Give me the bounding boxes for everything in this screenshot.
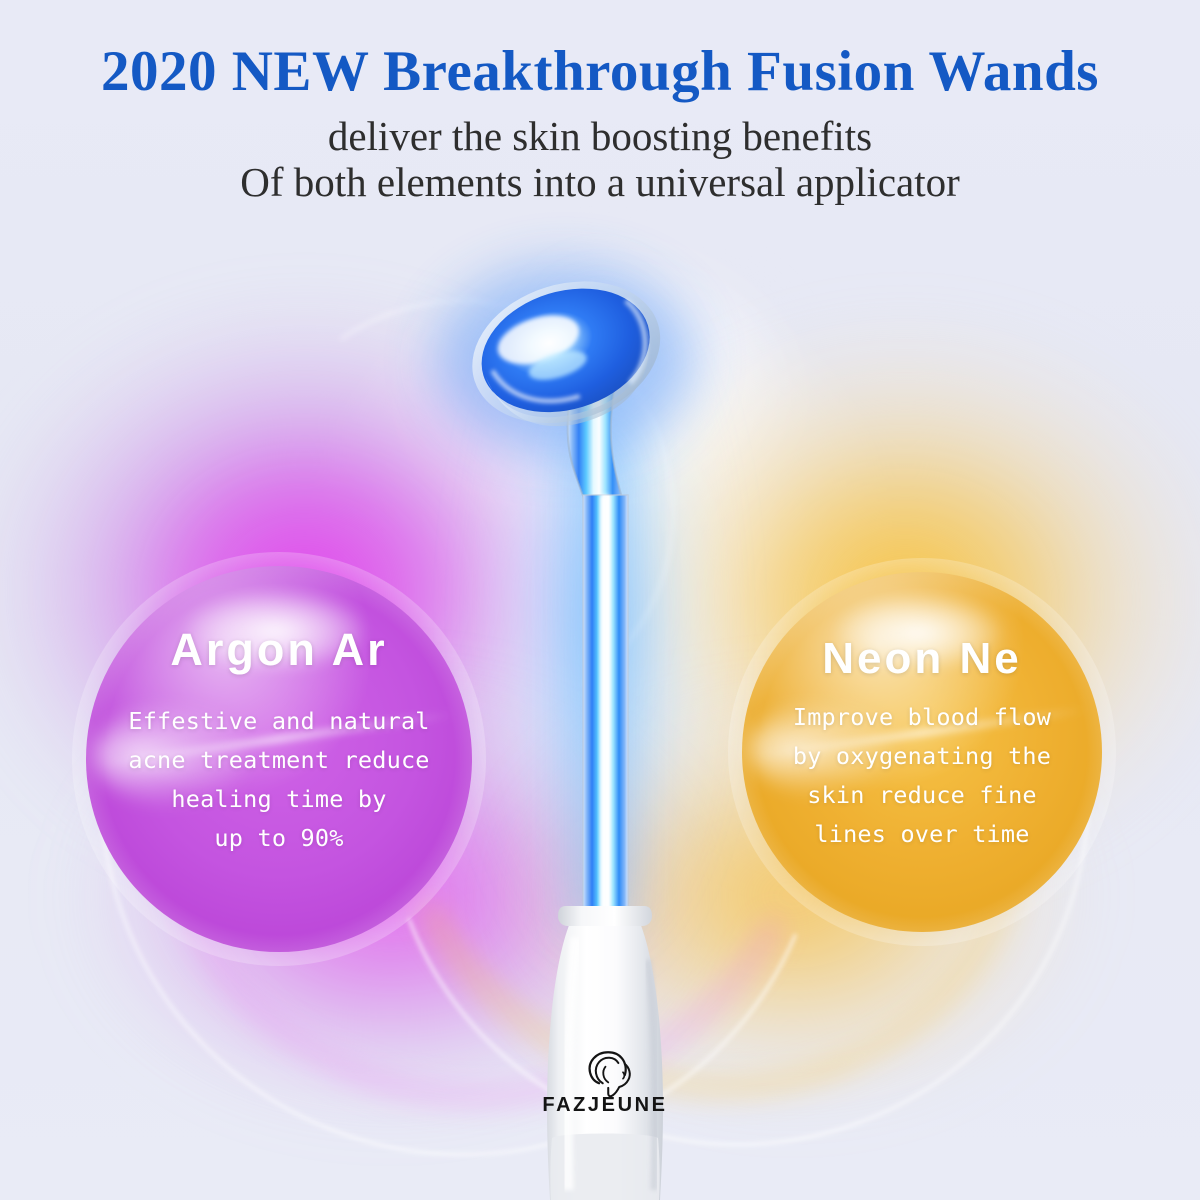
argon-description: Effestive and natural acne treatment red… (128, 702, 429, 858)
wand-handle (547, 906, 663, 1200)
neon-description: Improve blood flow by oxygenating the sk… (793, 698, 1051, 854)
argon-title: Argon Ar (170, 624, 387, 676)
argon-info-sphere: Argon Ar Effestive and natural acne trea… (86, 566, 472, 952)
neon-line-1: Improve blood flow (793, 698, 1051, 737)
neon-info-sphere: Neon Ne Improve blood flow by oxygenatin… (742, 572, 1102, 932)
argon-line-4: up to 90% (128, 819, 429, 858)
page-subtitle: deliver the skin boosting benefits Of bo… (0, 114, 1200, 206)
brand-logo-icon (590, 1052, 630, 1096)
page-title: 2020 NEW Breakthrough Fusion Wands (0, 42, 1200, 102)
argon-line-2: acne treatment reduce (128, 741, 429, 780)
subtitle-line-1: deliver the skin boosting benefits (0, 114, 1200, 160)
wand-tube (583, 495, 628, 925)
promo-banner: 2020 NEW Breakthrough Fusion Wands deliv… (0, 0, 1200, 1200)
argon-line-1: Effestive and natural (128, 702, 429, 741)
neon-line-2: by oxygenating the (793, 737, 1051, 776)
neon-line-3: skin reduce fine (793, 776, 1051, 815)
argon-line-3: healing time by (128, 780, 429, 819)
header-block: 2020 NEW Breakthrough Fusion Wands deliv… (0, 0, 1200, 206)
wand-glass-tip (455, 259, 680, 449)
blue-glow-center (430, 200, 770, 1100)
wand-glow-aura (435, 265, 695, 930)
neon-line-4: lines over time (793, 815, 1051, 854)
brand-logo-text: FAZJEUNE (542, 1094, 667, 1116)
wand-neck (568, 385, 624, 505)
subtitle-line-2: Of both elements into a universal applic… (0, 160, 1200, 206)
neon-title: Neon Ne (822, 634, 1021, 684)
center-white-glow (300, 170, 900, 630)
